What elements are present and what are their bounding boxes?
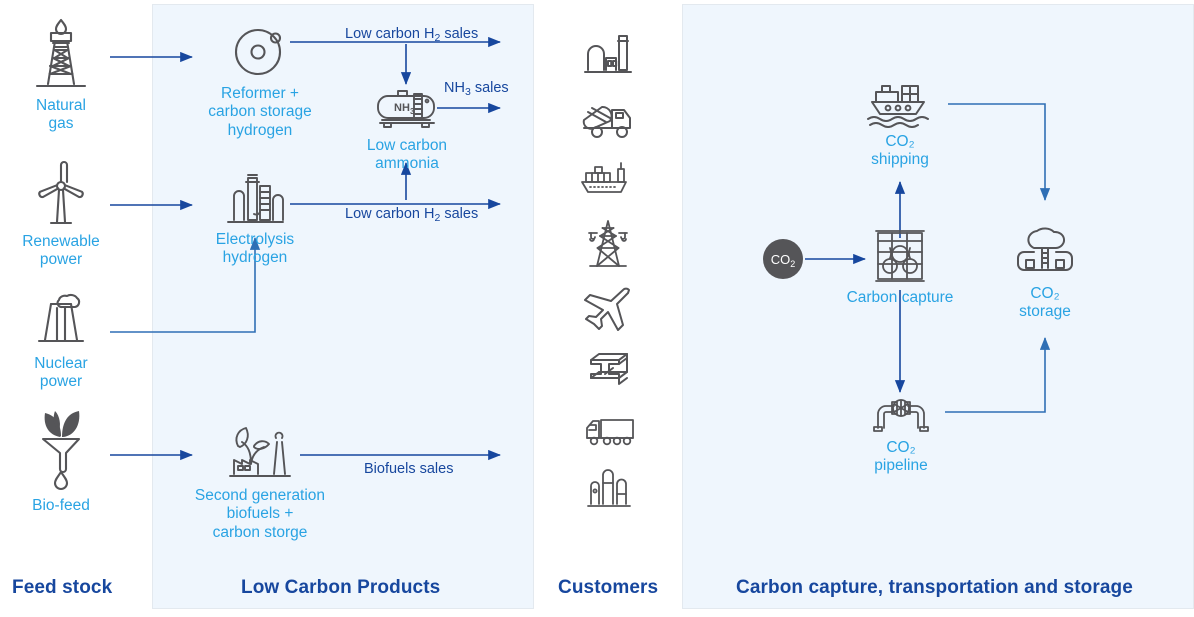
node-reformer: Reformer + carbon storage hydrogen <box>196 22 324 140</box>
footer-customers: Customers <box>558 577 658 599</box>
node-label: Low carbon ammonia <box>348 137 466 174</box>
cement-mixer-truck-icon <box>580 100 636 140</box>
footer-feed-stock: Feed stock <box>12 577 112 599</box>
atom-icon <box>196 22 324 80</box>
node-renewable-power: Renewable power <box>10 160 112 270</box>
bio-funnel-icon <box>10 406 112 492</box>
wind-turbine-icon <box>10 160 112 228</box>
flow-label-nh3-sales: NH3 sales <box>444 80 509 96</box>
node-nuclear-power: Nuclear power <box>10 288 112 392</box>
steel-beam-icon <box>585 350 633 396</box>
footer-low-carbon-products: Low Carbon Products <box>241 577 440 599</box>
nuclear-cooling-tower-icon <box>10 288 112 350</box>
footer-ccs: Carbon capture, transportation and stora… <box>736 577 1133 599</box>
node-low-carbon-ammonia: NH 3 Low carbon ammonia <box>348 86 466 174</box>
node-co2-shipping: CO₂ shipping <box>848 80 952 170</box>
node-label: CO₂ pipeline <box>852 439 950 476</box>
node-electrolysis: Electrolysis hydrogen <box>196 172 314 268</box>
node-co2-storage: CO₂ storage <box>994 222 1096 322</box>
storage-tanks-icon <box>586 466 632 510</box>
node-label: CO₂ shipping <box>848 133 952 170</box>
haulage-truck-icon <box>584 416 636 448</box>
node-label: Natural gas <box>10 97 112 134</box>
node-label: Reformer + carbon storage hydrogen <box>196 85 324 140</box>
node-carbon-capture: Carbon capture <box>840 228 960 307</box>
node-label: Bio-feed <box>10 497 112 515</box>
co2-source-chip: CO2 <box>763 239 803 279</box>
node-label: CO₂ storage <box>994 285 1096 322</box>
biofuel-plant-icon <box>186 424 334 482</box>
co2-storage-icon <box>994 222 1096 280</box>
co2-ship-icon <box>848 80 952 128</box>
carbon-capture-icon <box>840 228 960 284</box>
industrial-plant-icon <box>584 32 632 76</box>
co2-pipeline-icon <box>852 390 950 434</box>
node-co2-pipeline: CO₂ pipeline <box>852 390 950 476</box>
node-bio-feed: Bio-feed <box>10 406 112 515</box>
flow-label-biofuels-sales: Biofuels sales <box>364 461 453 477</box>
node-label: Carbon capture <box>840 289 960 307</box>
airplane-icon <box>582 285 634 331</box>
node-natural-gas: Natural gas <box>10 16 112 134</box>
diagram-canvas: Natural gas Renewable power Nuc <box>0 0 1194 617</box>
node-biofuels: Second generation biofuels + carbon stor… <box>186 424 334 542</box>
gas-derrick-icon <box>10 16 112 92</box>
node-label: Renewable power <box>10 233 112 270</box>
flow-label-h2-sales-bottom: Low carbon H2 sales <box>345 206 478 222</box>
svg-text:NH: NH <box>394 102 410 114</box>
electrolyser-plant-icon <box>196 172 314 226</box>
power-pylon-icon <box>584 218 632 270</box>
node-label: Electrolysis hydrogen <box>196 231 314 268</box>
cargo-ship-icon <box>578 160 636 196</box>
node-label: Second generation biofuels + carbon stor… <box>186 487 334 542</box>
node-label: Nuclear power <box>10 355 112 392</box>
flow-label-h2-sales-top: Low carbon H2 sales <box>345 26 478 42</box>
